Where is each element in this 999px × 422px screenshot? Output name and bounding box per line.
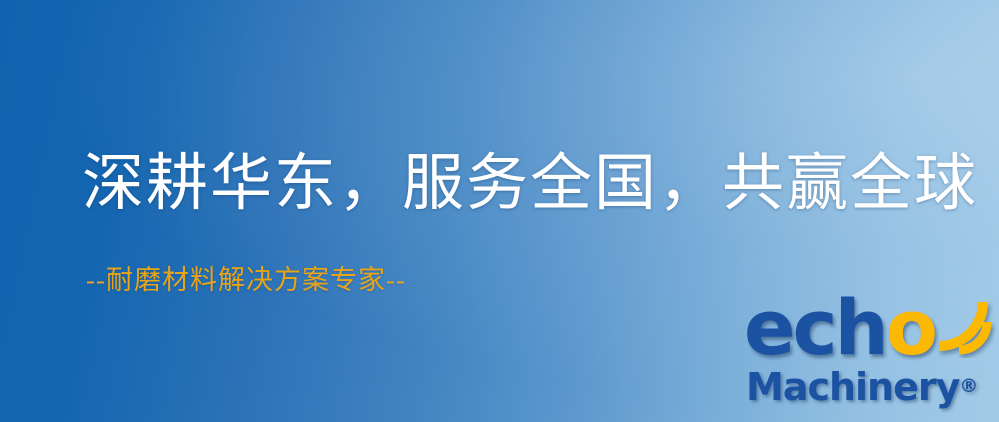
registered-trademark-icon: ® [959, 375, 978, 397]
logo-machinery-text: Machinery [746, 365, 959, 409]
banner-subtitle: --耐磨材料解决方案专家-- [86, 266, 406, 296]
logo-wordmark-o-gold: o [886, 283, 935, 372]
echo-signal-wave-icon [932, 294, 996, 358]
banner-headline: 深耕华东，服务全国，共赢全球 [82, 152, 978, 217]
logo-wordmark-ech-text: ech [744, 283, 886, 372]
logo-subtext-machinery: Machinery® [746, 368, 978, 406]
logo-wordmark-echo: echo [744, 290, 935, 366]
hero-banner: 深耕华东，服务全国，共赢全球 --耐磨材料解决方案专家-- echo Machi… [0, 0, 999, 422]
echo-machinery-logo[interactable]: echo Machinery® [744, 296, 996, 418]
